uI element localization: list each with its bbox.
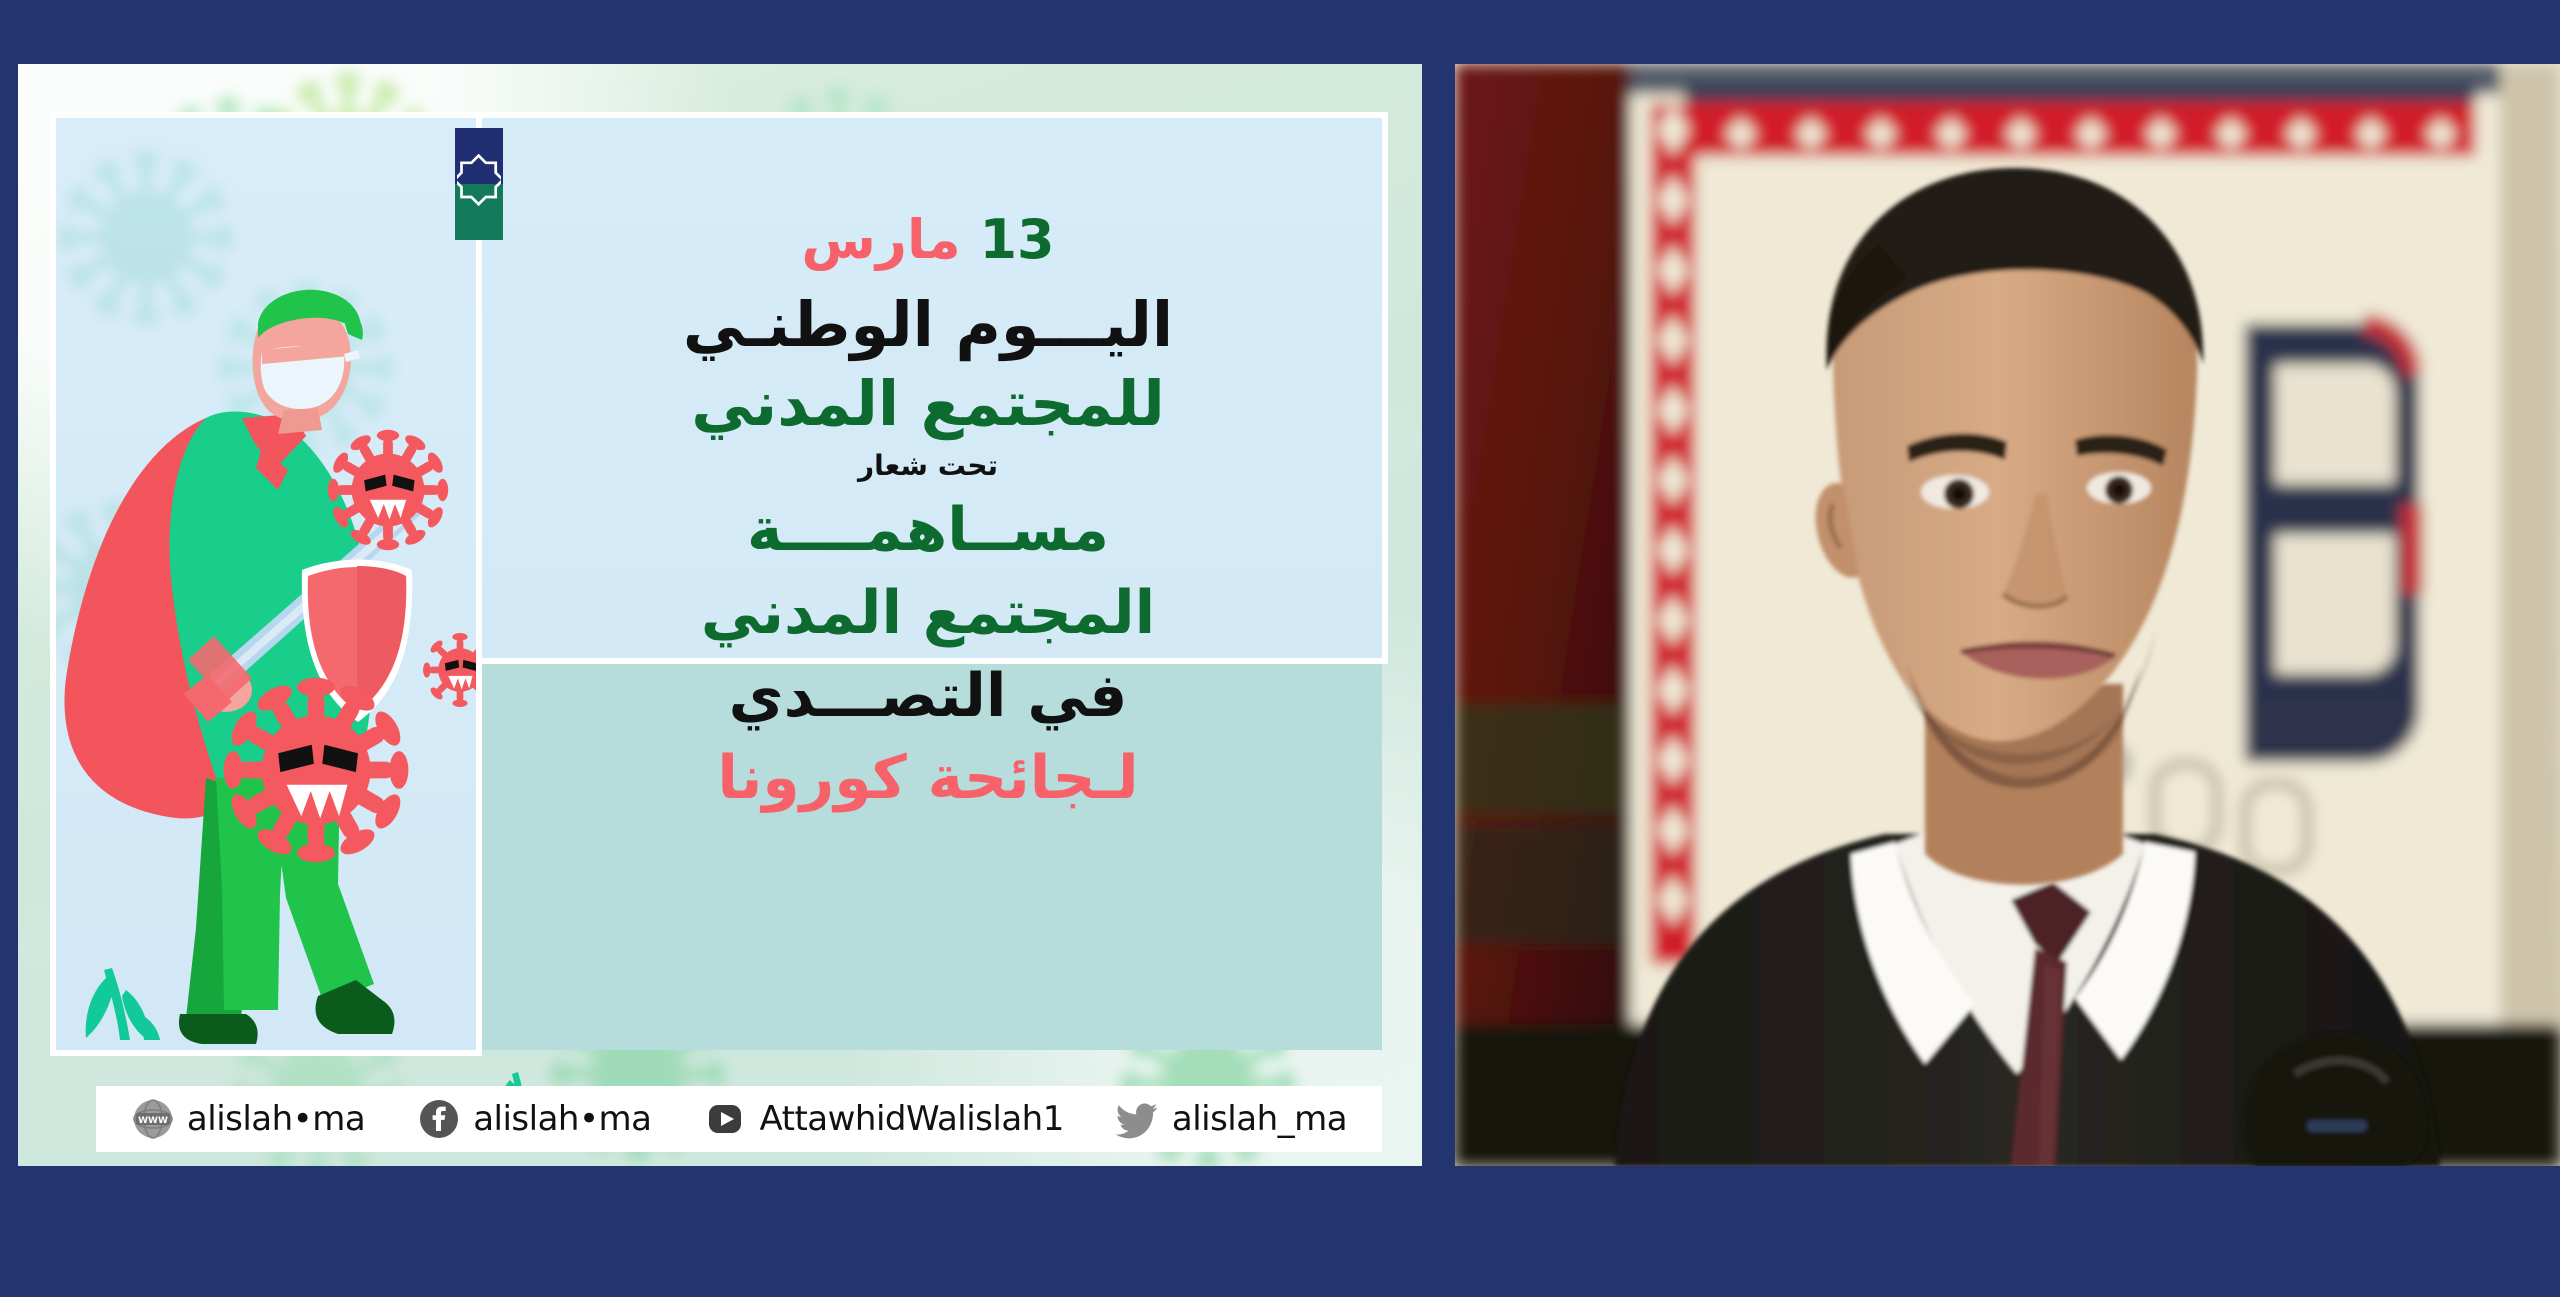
social-item-youtube[interactable]: AttawhidWalislah1 (703, 1097, 1063, 1141)
social-label-facebook: alislah•ma (473, 1099, 651, 1139)
slogan-line-4: لـجائحة كورونا (488, 748, 1368, 809)
superhero-illustration (56, 118, 476, 1050)
title-line-1: اليـــوم الوطنـي (488, 293, 1368, 356)
svg-text:WWW: WWW (138, 1116, 168, 1126)
illustration-panel (56, 118, 476, 1050)
poster-image: 13 مارس اليـــوم الوطنـي للمجتمع المدني … (18, 64, 1422, 1166)
plant-sprig (86, 968, 160, 1040)
title-line-2: للمجتمع المدني (488, 372, 1368, 435)
social-item-facebook[interactable]: alislah•ma (417, 1097, 651, 1141)
social-item-website[interactable]: WWW alislah•ma (131, 1097, 365, 1141)
interview-video-panel[interactable] (1455, 64, 2560, 1166)
screenshot-root: 13 مارس اليـــوم الوطنـي للمجتمع المدني … (0, 0, 2560, 1297)
social-links-bar: WWW alislah•ma alislah•ma (96, 1086, 1382, 1152)
social-item-twitter[interactable]: alislah_ma (1116, 1097, 1347, 1141)
virus-small (423, 633, 476, 707)
social-label-website: alislah•ma (187, 1099, 365, 1139)
poster-text-block: 13 مارس اليـــوم الوطنـي للمجتمع المدني … (488, 194, 1368, 1074)
slogan-line-3: في التصـــدي (488, 666, 1368, 727)
globe-www-icon: WWW (131, 1097, 175, 1141)
subtitle: تحت شعار (488, 452, 1368, 481)
youtube-icon (703, 1097, 747, 1141)
slogan-line-1: مســاهمــــة (488, 500, 1368, 561)
social-label-twitter: alislah_ma (1172, 1099, 1347, 1139)
twitter-icon (1116, 1097, 1160, 1141)
facebook-icon (417, 1097, 461, 1141)
date-line: 13 مارس (488, 212, 1368, 267)
date-day: 13 (979, 208, 1054, 271)
social-label-youtube: AttawhidWalislah1 (759, 1099, 1063, 1139)
slogan-line-2: المجتمع المدني (488, 583, 1368, 644)
person-in-suit (1455, 64, 2560, 1166)
date-month: مارس (801, 208, 960, 271)
